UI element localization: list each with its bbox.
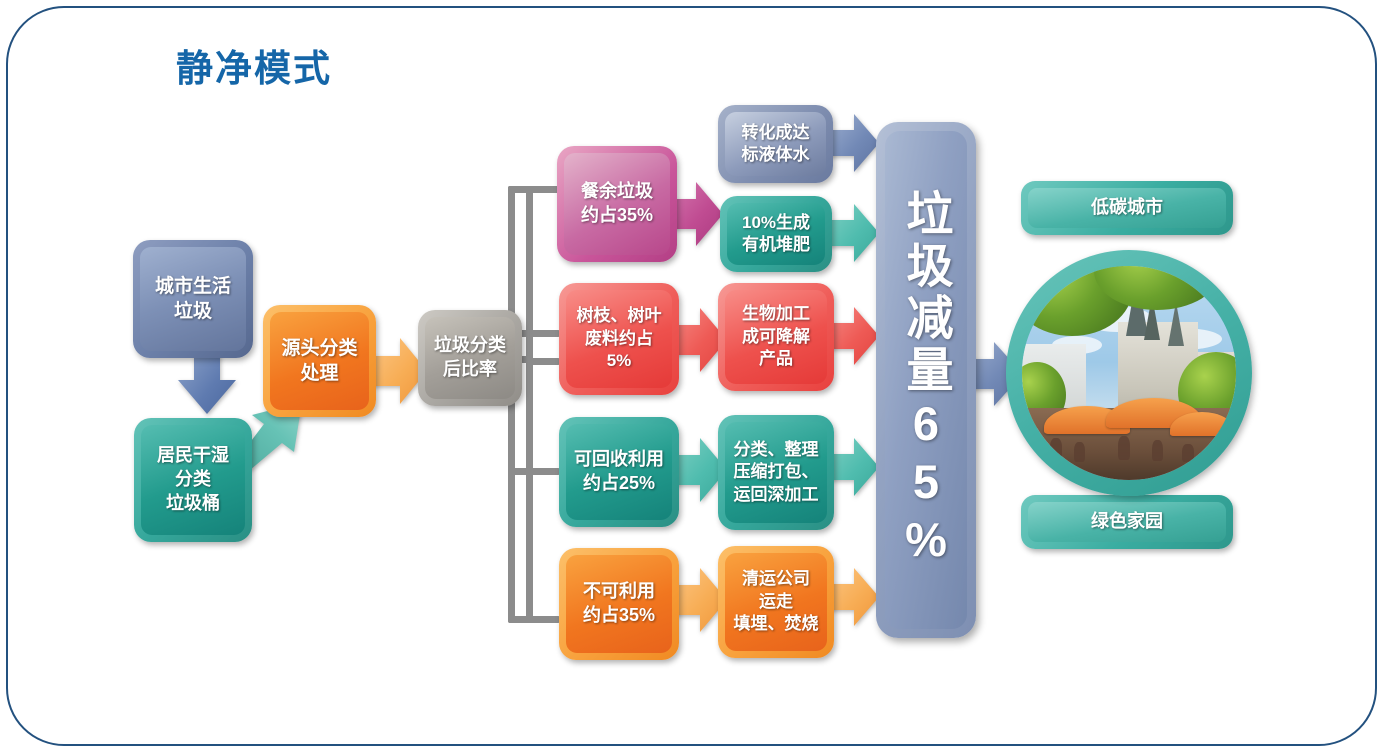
node-branch-leaf[interactable]: 树枝、树叶 废料约占 5%	[559, 283, 679, 395]
page-title: 静净模式	[176, 38, 332, 92]
arrow-deep-to-reduction	[828, 436, 880, 498]
node-waste-reduction-label: 垃圾减量65%	[903, 189, 950, 571]
node-deep-processing-label: 分类、整理 压缩打包、 运回深加工	[734, 439, 819, 506]
node-source-sorting[interactable]: 源头分类 处理	[263, 305, 376, 417]
node-post-sorting-ratio[interactable]: 垃圾分类 后比率	[418, 310, 522, 406]
node-recyclable-label: 可回收利用 约占25%	[574, 448, 664, 496]
arrow-landfill-to-reduction	[828, 566, 880, 628]
node-urban-waste[interactable]: 城市生活 垃圾	[133, 240, 253, 358]
node-liquid-water-label: 转化成达 标液体水	[742, 122, 810, 167]
node-urban-waste-label: 城市生活 垃圾	[155, 274, 231, 324]
diagram-canvas: 静净模式	[0, 0, 1387, 754]
connector-hub-stub-v	[526, 186, 533, 623]
node-biodegradable[interactable]: 生物加工 成可降解 产品	[718, 283, 834, 391]
node-non-usable[interactable]: 不可利用 约占35%	[559, 548, 679, 660]
arrow-compost-to-reduction	[828, 202, 880, 264]
arrow-water-to-reduction	[828, 112, 880, 174]
node-deep-processing[interactable]: 分类、整理 压缩打包、 运回深加工	[718, 415, 834, 530]
node-green-home-label: 绿色家园	[1091, 510, 1163, 534]
node-food-waste-label: 餐余垃圾 约占35%	[581, 180, 653, 228]
node-food-waste[interactable]: 餐余垃圾 约占35%	[557, 146, 677, 262]
node-resident-bins-label: 居民干湿 分类 垃圾桶	[157, 444, 229, 515]
node-low-carbon-city-label: 低碳城市	[1091, 196, 1163, 220]
node-recyclable[interactable]: 可回收利用 约占25%	[559, 417, 679, 527]
node-liquid-water[interactable]: 转化成达 标液体水	[718, 105, 833, 183]
node-biodegradable-label: 生物加工 成可降解 产品	[742, 303, 810, 370]
connector-branch-recyclable	[508, 468, 560, 475]
node-green-home[interactable]: 绿色家园	[1021, 495, 1233, 549]
node-landfill-burn[interactable]: 清运公司 运走 填埋、焚烧	[718, 546, 834, 658]
node-low-carbon-city[interactable]: 低碳城市	[1021, 181, 1233, 235]
connector-branch-nonusable	[508, 616, 560, 623]
node-organic-compost[interactable]: 10%生成 有机堆肥	[720, 196, 832, 272]
city-photo-ring	[1006, 250, 1252, 496]
city-photo	[1022, 266, 1236, 480]
node-organic-compost-label: 10%生成 有机堆肥	[742, 212, 810, 257]
node-source-sorting-label: 源头分类 处理	[281, 336, 357, 386]
node-landfill-burn-label: 清运公司 运走 填埋、焚烧	[734, 568, 819, 635]
node-post-sorting-ratio-label: 垃圾分类 后比率	[434, 334, 506, 382]
node-branch-leaf-label: 树枝、树叶 废料约占 5%	[577, 305, 662, 372]
node-non-usable-label: 不可利用 约占35%	[583, 580, 655, 628]
node-waste-reduction[interactable]: 垃圾减量65%	[876, 122, 976, 638]
arrow-biodegradable-to-reduction	[828, 305, 880, 367]
connector-branch-food	[508, 186, 560, 193]
node-resident-bins[interactable]: 居民干湿 分类 垃圾桶	[134, 418, 252, 542]
